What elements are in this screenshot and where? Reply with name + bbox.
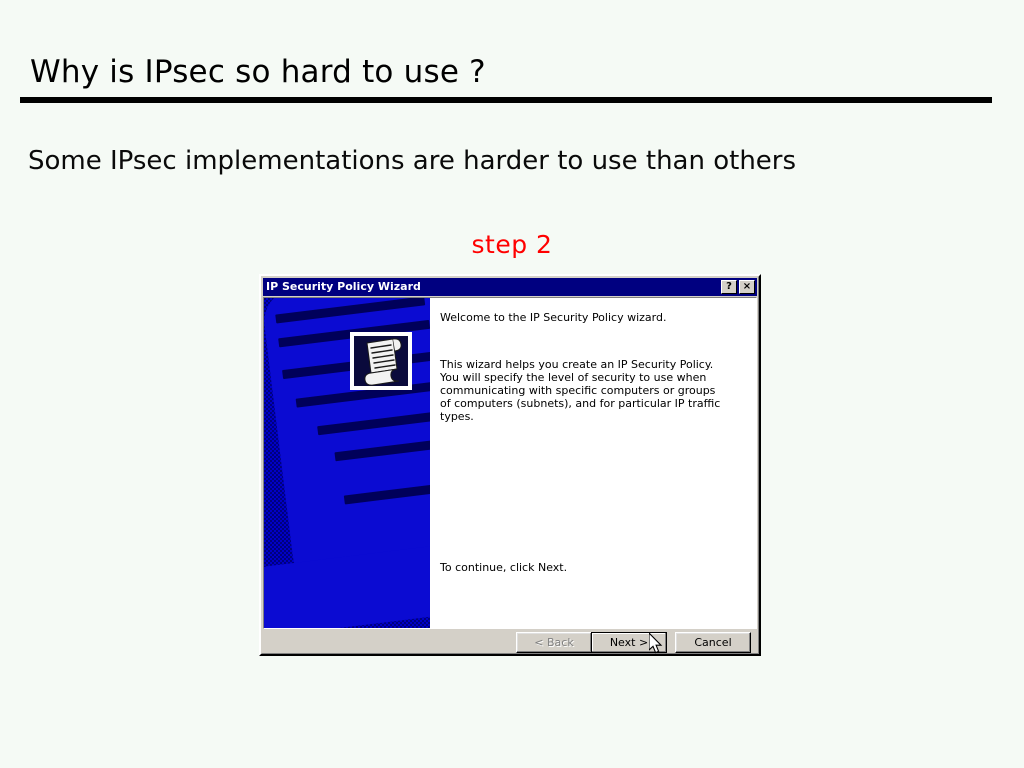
- wizard-welcome-text: Welcome to the IP Security Policy wizard…: [440, 311, 742, 324]
- dialog-button-bar: < Back Next > Cancel: [263, 630, 757, 654]
- wizard-text-pane: Welcome to the IP Security Policy wizard…: [431, 298, 756, 628]
- wizard-description-text: This wizard helps you create an IP Secur…: [440, 358, 728, 423]
- scroll-document-icon: [350, 332, 412, 390]
- next-button[interactable]: Next >: [591, 632, 667, 653]
- dialog-title: IP Security Policy Wizard: [266, 278, 719, 296]
- watermark-base-shape: [264, 543, 430, 628]
- close-icon[interactable]: ×: [739, 280, 755, 294]
- title-divider: [20, 97, 992, 103]
- help-icon[interactable]: ?: [721, 280, 737, 294]
- cancel-button[interactable]: Cancel: [675, 632, 751, 653]
- page-title: Why is IPsec so hard to use ?: [30, 52, 486, 92]
- wizard-continue-text: To continue, click Next.: [440, 561, 567, 574]
- slide-subtitle: Some IPsec implementations are harder to…: [28, 144, 796, 178]
- dialog-client-area: Welcome to the IP Security Policy wizard…: [263, 297, 757, 629]
- dialog-titlebar[interactable]: IP Security Policy Wizard ? ×: [263, 278, 757, 296]
- wizard-graphic-panel: [264, 298, 430, 628]
- back-button[interactable]: < Back: [516, 632, 592, 653]
- step-caption: step 2: [0, 230, 1024, 259]
- ip-security-policy-wizard-dialog: IP Security Policy Wizard ? ×: [259, 274, 761, 656]
